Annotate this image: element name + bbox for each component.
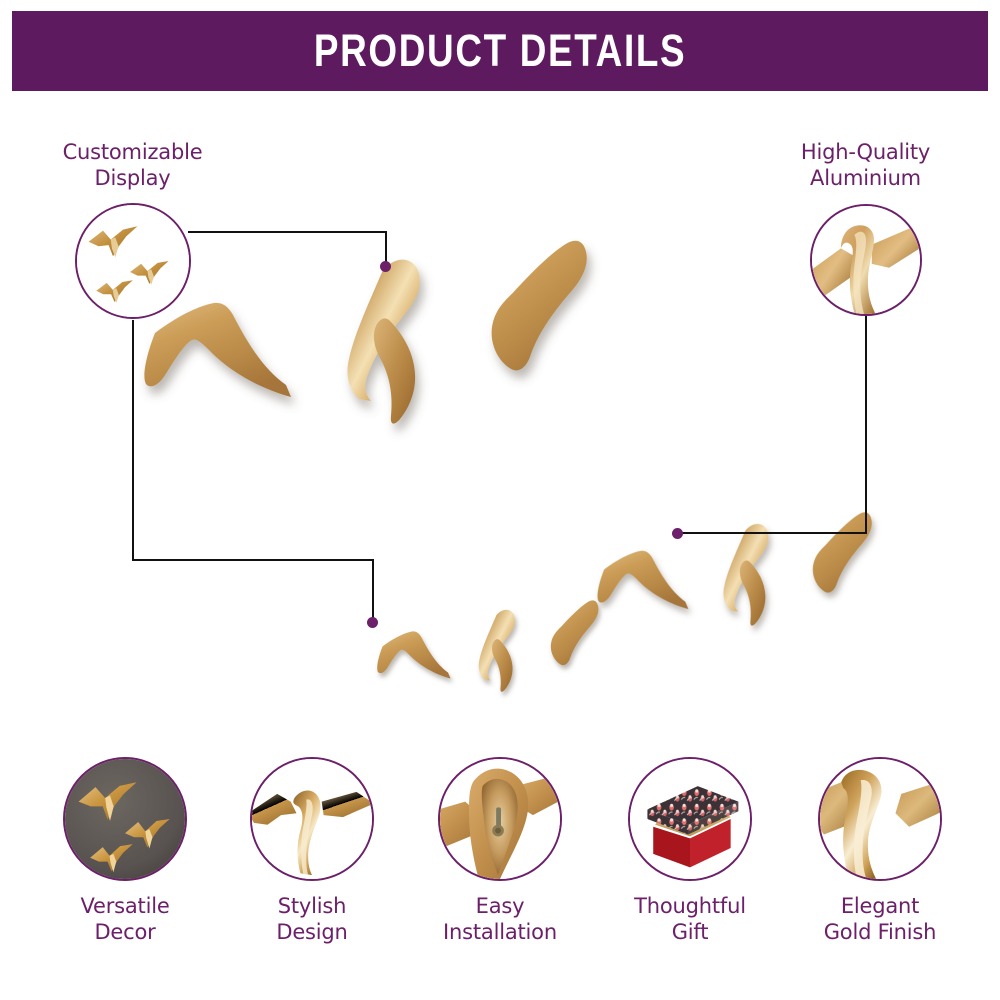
page-title: PRODUCT DETAILS [314, 25, 686, 77]
connector-line-display-down-v [132, 320, 134, 561]
gold-bird-large-shape [199, 302, 581, 497]
feature-label-elegant-gold-finish: Elegant Gold Finish [792, 893, 968, 945]
connector-line-aluminium-v [865, 315, 867, 534]
feature-versatile-decor[interactable]: Versatile Decor [37, 757, 213, 945]
single-bird-icon [252, 759, 372, 879]
feature-thumb-elegant-gold-finish[interactable] [818, 757, 942, 881]
hero-bird-artwork [0, 100, 1000, 740]
gold-bird-medium [598, 512, 872, 625]
feature-thumb-stylish-design[interactable] [250, 757, 374, 881]
feature-label-easy-installation: Easy Installation [412, 893, 588, 945]
feature-label-versatile-decor: Versatile Decor [37, 893, 213, 945]
feature-thumb-easy-installation[interactable] [438, 757, 562, 881]
feature-elegant-gold-finish[interactable]: Elegant Gold Finish [792, 757, 968, 945]
floral-gift-box-icon [630, 759, 750, 879]
feature-thumb-thoughtful-gift[interactable] [628, 757, 752, 881]
birds-on-dark-panel-icon [65, 759, 185, 879]
connector-line-aluminium-h [678, 532, 867, 534]
feature-label-stylish-design: Stylish Design [224, 893, 400, 945]
connector-line-customizable-h [188, 231, 387, 233]
connector-line-display-small-v [372, 559, 374, 623]
anchor-dot-medium-bird [672, 528, 683, 539]
callout-label-customizable-display: Customizable Display [40, 139, 225, 191]
feature-thoughtful-gift[interactable]: Thoughtful Gift [602, 757, 778, 945]
feature-stylish-design[interactable]: Stylish Design [224, 757, 400, 945]
gold-bird-large [144, 241, 586, 424]
bird-closeup-icon [812, 206, 920, 314]
callout-label-high-quality-aluminium: High-Quality Aluminium [773, 139, 958, 191]
callout-thumb-high-quality-aluminium[interactable] [810, 204, 922, 316]
feature-easy-installation[interactable]: Easy Installation [412, 757, 588, 945]
header-banner: PRODUCT DETAILS [12, 11, 988, 91]
anchor-dot-large-bird [380, 261, 391, 272]
feature-label-thoughtful-gift: Thoughtful Gift [602, 893, 778, 945]
bird-back-screw-icon [440, 759, 560, 879]
product-details-infographic: PRODUCT DETAILS [0, 0, 1000, 1000]
gold-bird-small [377, 600, 598, 691]
callout-thumb-customizable-display[interactable] [75, 203, 191, 319]
three-birds-white-icon [77, 205, 189, 317]
anchor-dot-small-bird [367, 617, 378, 628]
gold-finish-closeup-icon [820, 759, 940, 879]
connector-line-display-down-h [132, 559, 374, 561]
feature-thumb-versatile-decor[interactable] [63, 757, 187, 881]
